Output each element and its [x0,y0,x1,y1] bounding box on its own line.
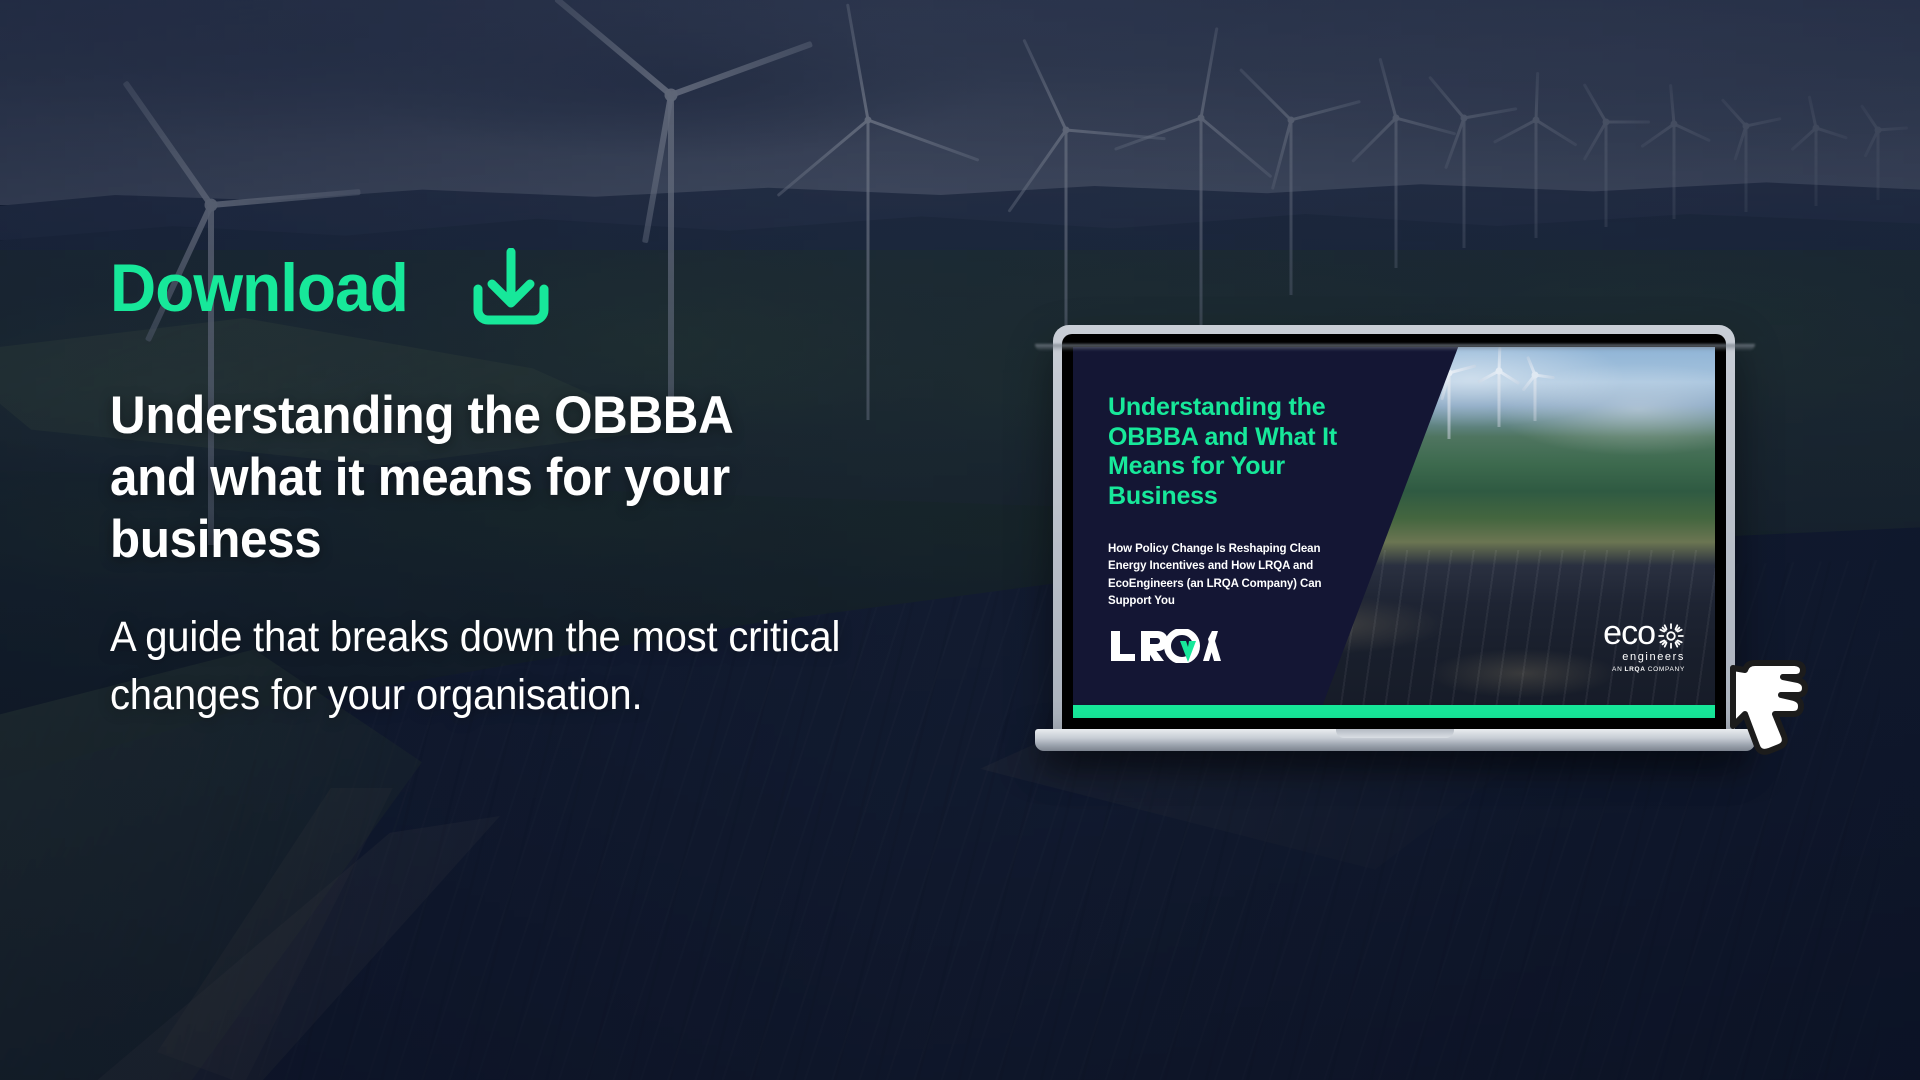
slide-subtitle: How Policy Change Is Reshaping Clean Ene… [1108,541,1343,610]
laptop-mockup: Understanding the OBBBA and What It Mean… [1035,325,1755,785]
laptop-bezel: Understanding the OBBBA and What It Mean… [1062,334,1726,737]
wind-turbine [1493,371,1505,427]
laptop-screen[interactable]: Understanding the OBBBA and What It Mean… [1073,347,1715,737]
turbine-mast [1498,371,1501,427]
tagline-brand: LRQA [1624,666,1645,673]
turbine-hub [1496,368,1503,375]
hand-pointer-cursor [1715,660,1835,780]
wind-turbine [1529,375,1541,421]
sunburst-icon [1657,622,1685,650]
ecoengineers-wordmark: eco [1603,618,1655,649]
tagline-prefix: AN [1612,666,1622,673]
turbine-mast [1448,373,1451,439]
slide-title: Understanding the OBBBA and What It Mean… [1108,393,1338,511]
laptop-base-shadow [1035,344,1755,351]
ecoengineers-subword: engineers [1603,651,1685,663]
ecoengineers-wordmark-row: eco [1603,618,1685,650]
turbine-blade [1449,364,1477,374]
ecoengineers-logo: eco [1603,618,1685,673]
laptop-base [1035,729,1755,751]
page-title: Understanding the OBBBA and what it mean… [110,385,798,571]
download-label: Download [110,254,408,322]
ebook-cover-slide: Understanding the OBBBA and What It Mean… [1073,347,1715,737]
turbine-mast [1534,375,1537,421]
copy-block: Download Understanding the OBBBA and wha… [0,0,900,1080]
promo-banner: Download Understanding the OBBBA and wha… [0,0,1920,1080]
laptop-base-notch [1336,729,1454,738]
page-subcopy: A guide that breaks down the most critic… [110,608,845,725]
ecoengineers-tagline: AN LRQA COMPANY [1603,666,1685,673]
tagline-suffix: COMPANY [1648,666,1685,673]
lrqa-logo [1108,629,1224,663]
wind-turbine [1443,373,1455,439]
download-arrow-tray-icon [469,248,553,328]
laptop-lid: Understanding the OBBBA and What It Mean… [1053,325,1735,737]
download-eyebrow: Download [110,248,553,328]
turbine-hub [1532,372,1539,379]
slide-accent-bar [1073,705,1715,718]
